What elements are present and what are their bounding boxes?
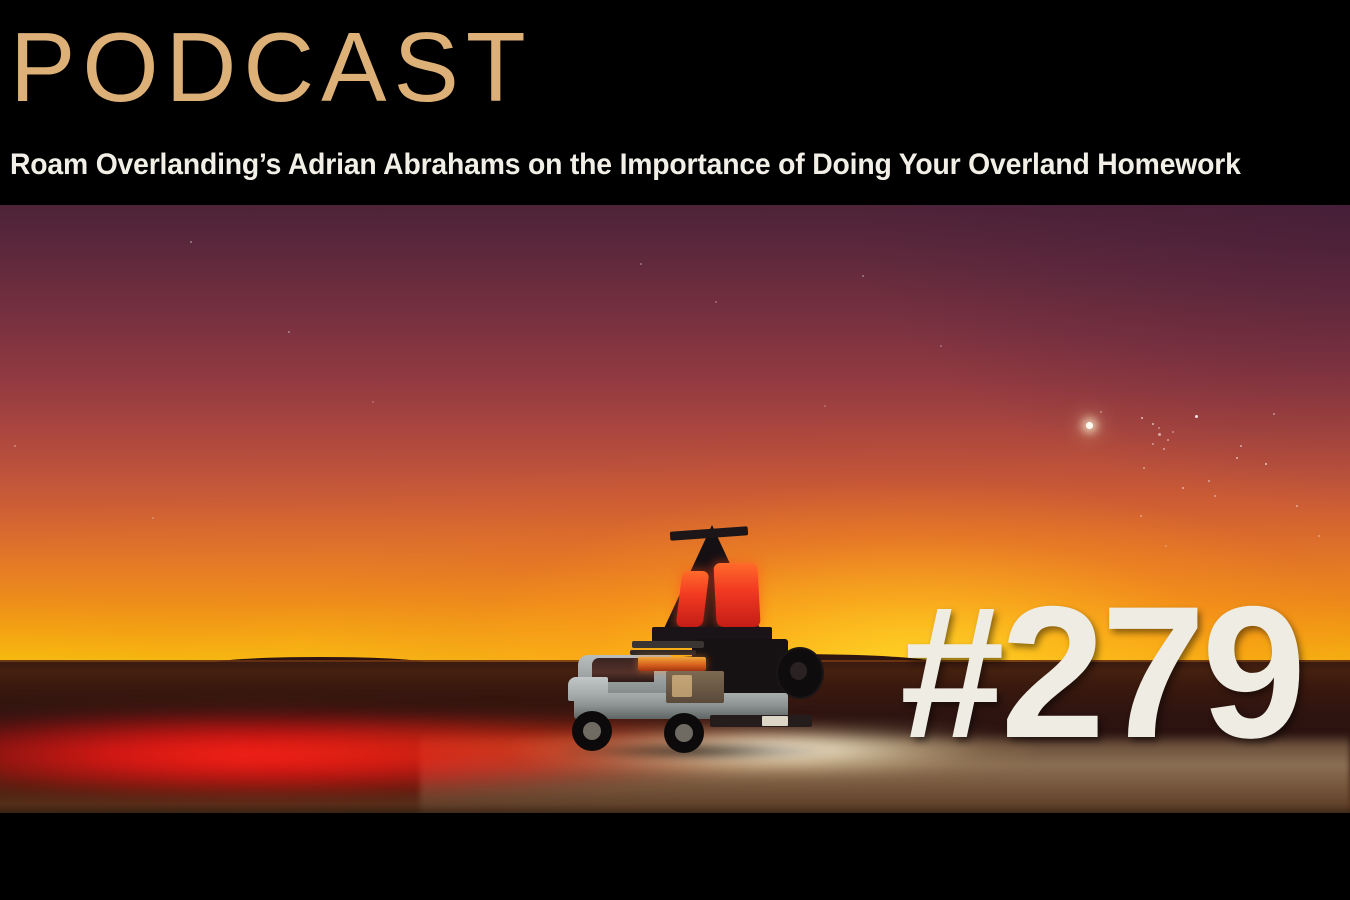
awning xyxy=(638,657,706,671)
star-field xyxy=(0,205,1350,565)
episode-subtitle: Roam Overlanding’s Adrian Abrahams on th… xyxy=(10,148,1241,182)
camp-drawer-light xyxy=(672,675,692,697)
podcast-cover: #279 PODCAST Roam Overlanding’s Adrian A… xyxy=(0,0,1350,900)
front-wheel-rim xyxy=(583,722,601,740)
header-band: PODCAST Roam Overlanding’s Adrian Abraha… xyxy=(0,0,1350,205)
rear-bumper xyxy=(710,715,812,727)
footer-band xyxy=(0,813,1350,900)
spare-tire-hub xyxy=(790,662,807,680)
episode-number: #279 xyxy=(900,578,1302,766)
page-title: PODCAST xyxy=(10,17,533,117)
rooftop-tent-window xyxy=(713,563,760,627)
licence-plate xyxy=(762,716,788,726)
rear-wheel-rim xyxy=(675,724,693,742)
overland-truck xyxy=(560,515,850,765)
roof-rack-bar xyxy=(632,641,704,648)
bright-planet xyxy=(1086,422,1093,429)
